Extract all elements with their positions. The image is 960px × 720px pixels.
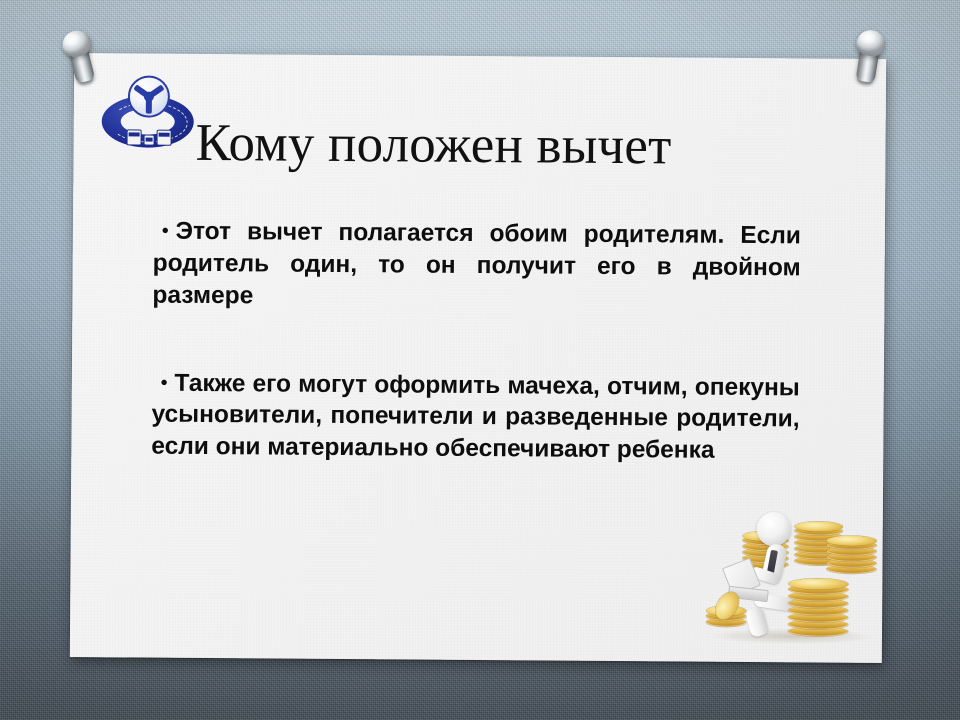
bullet-text-1: Этот вычет полагается обоим родителям. Е…: [152, 218, 801, 309]
transport-academy-emblem-icon: [101, 75, 194, 154]
bullet-text-2: Также его могут оформить мачеха, отчим, …: [151, 369, 800, 464]
bullet-marker-1: •: [162, 220, 169, 245]
emblem-hub: [144, 92, 154, 102]
bullet-paragraph-1: •Этот вычет полагается обоим родителям. …: [152, 216, 801, 316]
emblem-vehicle-icon: [126, 129, 141, 145]
slide-body: •Этот вычет полагается обоим родителям. …: [151, 216, 801, 468]
push-pin-right-icon: [841, 25, 896, 93]
presentation-slide: Кому положен вычет •Этот вычет полагаетс…: [70, 53, 886, 663]
emblem-vehicle-icon: [156, 130, 171, 146]
bullet-paragraph-2: •Также его могут оформить мачеха, отчим,…: [151, 367, 800, 467]
push-pin-left-icon: [51, 23, 111, 94]
bullet-marker-2: •: [161, 371, 168, 396]
emblem-steering-wheel-icon: [128, 75, 170, 117]
slide-stage: Кому положен вычет •Этот вычет полагаетс…: [0, 0, 960, 720]
emblem-vehicle-row: [126, 127, 172, 145]
emblem-vehicle-icon: [143, 135, 154, 146]
figure-head: [757, 512, 791, 546]
slide-title: Кому положен вычет: [195, 116, 815, 176]
coin-illustration: [702, 500, 883, 651]
